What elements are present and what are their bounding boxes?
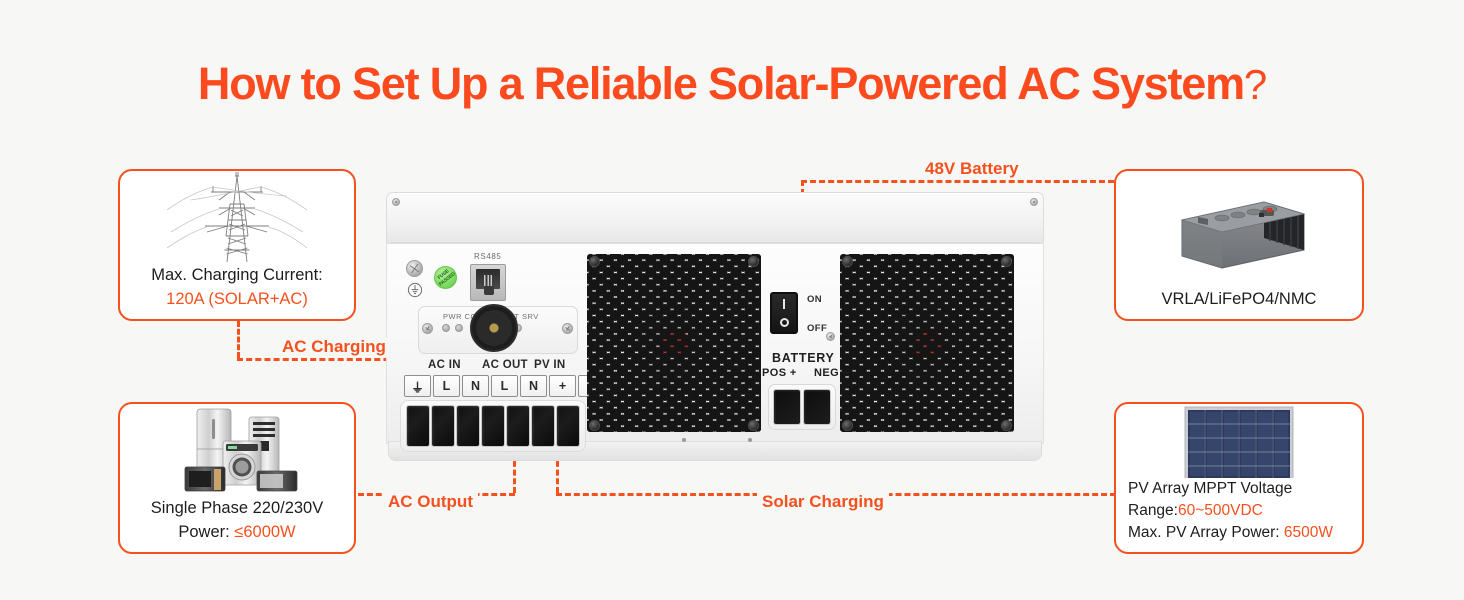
card-pv-line1: PV Array MPPT Voltage xyxy=(1128,478,1356,500)
page-title: How to Set Up a Reliable Solar-Powered A… xyxy=(0,58,1464,110)
card-grid-caption: Max. Charging Current: 120A (SOLAR+AC) xyxy=(120,264,354,319)
card-pv-range-value: 60~500VDC xyxy=(1178,502,1263,519)
terminal-marking-boxes: ⏚ L N xyxy=(404,375,489,397)
terminal-box-acin-n: N xyxy=(462,375,489,397)
battery-slot-positive[interactable] xyxy=(774,390,800,424)
vent-right-screw-bl xyxy=(842,420,853,431)
ac-in-label: AC IN xyxy=(428,359,461,371)
honeycomb-mesh-right xyxy=(840,254,1014,432)
solar-panel-icon xyxy=(1116,404,1362,478)
cover-screw-top-left xyxy=(392,198,400,206)
card-grid-line1: Max. Charging Current: xyxy=(126,264,348,287)
terminal-box-ground: ⏚ xyxy=(404,375,431,397)
ac-pv-terminal-tray[interactable] xyxy=(400,400,586,452)
vent-left-screw-tl xyxy=(589,256,600,267)
card-pv-line2: Range:60~500VDC xyxy=(1128,500,1356,522)
ground-symbol-icon xyxy=(407,282,421,296)
home-appliances-icon xyxy=(120,404,354,497)
battery-port-title: BATTERY xyxy=(772,351,835,365)
qc-sticker-text: FUSE PASSED xyxy=(434,266,457,289)
coaxial-connector[interactable] xyxy=(470,304,518,352)
card-pv-caption: PV Array MPPT Voltage Range:60~500VDC Ma… xyxy=(1116,478,1362,552)
switch-off-symbol xyxy=(780,318,789,327)
honeycomb-mesh-left xyxy=(587,254,761,432)
connector-acchg-vertical xyxy=(237,321,240,358)
switch-on-label: ON xyxy=(807,294,822,305)
terminal-slot-acin-n[interactable] xyxy=(457,406,479,446)
card-battery-type[interactable]: VRLA/LiFePO4/NMC xyxy=(1114,169,1364,321)
card-pv-power-value: 6500W xyxy=(1284,524,1333,541)
pwr-com-led-1 xyxy=(442,324,450,332)
vent-left-screw-bl xyxy=(589,420,600,431)
card-load-line2: Power: ≤6000W xyxy=(126,521,348,544)
comm-panel-screw-right xyxy=(562,323,573,334)
switch-on-symbol xyxy=(783,299,785,309)
terminal-slot-pv-pos[interactable] xyxy=(532,406,554,446)
card-load-caption: Single Phase 220/230V Power: ≤6000W xyxy=(120,497,354,552)
connector-label-ac-output: AC Output xyxy=(383,492,478,512)
base-dot-right xyxy=(748,438,752,442)
chassis-screw-left xyxy=(406,260,423,277)
card-ac-output-load[interactable]: Single Phase 220/230V Power: ≤6000W xyxy=(118,402,356,554)
battery-port-neg-label: NEG − xyxy=(814,367,849,379)
battery-terminal-tray[interactable] xyxy=(768,384,836,430)
card-load-power-value: ≤6000W xyxy=(234,523,295,541)
cooling-vent-right xyxy=(840,254,1014,432)
card-batt-caption: VRLA/LiFePO4/NMC xyxy=(1116,288,1362,319)
card-pv-array[interactable]: PV Array MPPT Voltage Range:60~500VDC Ma… xyxy=(1114,402,1364,554)
terminal-slot-acout-n[interactable] xyxy=(507,406,529,446)
terminal-box-acout-l: L xyxy=(491,375,518,397)
transmission-tower-icon xyxy=(120,171,354,264)
connector-label-solar-charging: Solar Charging xyxy=(757,492,889,512)
terminal-slot-ground[interactable] xyxy=(407,406,429,446)
terminal-marking-boxes-acout: L N xyxy=(491,375,547,397)
card-grid-line2: 120A (SOLAR+AC) xyxy=(126,288,348,311)
vent-left-screw-br xyxy=(748,420,759,431)
terminal-box-acout-n: N xyxy=(520,375,547,397)
terminal-slot-acin-l[interactable] xyxy=(432,406,454,446)
card-load-line1: Single Phase 220/230V xyxy=(126,497,348,520)
connector-battery-horizontal xyxy=(801,180,1114,183)
battery-slot-negative[interactable] xyxy=(804,390,830,424)
infographic-canvas: How to Set Up a Reliable Solar-Powered A… xyxy=(0,0,1464,600)
card-pv-range-label: Range: xyxy=(1128,502,1178,519)
qc-passed-sticker: FUSE PASSED xyxy=(434,266,457,289)
vent-right-screw-tr xyxy=(1001,256,1012,267)
card-pv-power-label: Max. PV Array Power: xyxy=(1128,524,1284,541)
comm-panel-screw-left xyxy=(422,323,433,334)
rs485-rj45-port[interactable] xyxy=(470,264,506,301)
rs485-label: RS485 xyxy=(474,252,501,261)
base-dot-left xyxy=(682,438,686,442)
terminal-box-acin-l: L xyxy=(433,375,460,397)
vent-right-screw-tl xyxy=(842,256,853,267)
inverter-top-cover xyxy=(386,192,1044,244)
terminal-box-pv-pos: + xyxy=(549,375,576,397)
terminal-slot-acout-l[interactable] xyxy=(482,406,504,446)
ac-out-label: AC OUT xyxy=(482,359,528,371)
page-title-text: How to Set Up a Reliable Solar-Powered A… xyxy=(198,58,1244,109)
card-load-power-label: Power: xyxy=(178,523,234,541)
card-batt-line1: VRLA/LiFePO4/NMC xyxy=(1122,288,1356,311)
cooling-vent-left xyxy=(587,254,761,432)
pv-in-label: PV IN xyxy=(534,359,566,371)
inverter-device: RS485 FUSE PASSED PWR COM NET SRV xyxy=(386,192,1044,462)
battery-port-pos-label: POS + xyxy=(762,367,797,379)
cover-screw-top-right xyxy=(1030,198,1038,206)
connector-label-ac-charging: AC Charging xyxy=(277,337,391,357)
vent-left-screw-tr xyxy=(748,256,759,267)
card-pv-line3: Max. PV Array Power: 6500W xyxy=(1128,522,1356,544)
battery-power-switch[interactable] xyxy=(770,292,798,334)
card-max-charging-current[interactable]: Max. Charging Current: 120A (SOLAR+AC) xyxy=(118,169,356,321)
switch-off-label: OFF xyxy=(807,323,827,334)
pwr-com-led-2 xyxy=(455,324,463,332)
battery-area-screw xyxy=(826,332,835,341)
battery-icon xyxy=(1116,171,1362,288)
rj45-latch-notch xyxy=(484,286,494,295)
page-title-question-mark: ? xyxy=(1244,61,1266,108)
connector-label-battery: 48V Battery xyxy=(920,159,1024,179)
vent-right-screw-br xyxy=(1001,420,1012,431)
terminal-slot-pv-neg[interactable] xyxy=(557,406,579,446)
